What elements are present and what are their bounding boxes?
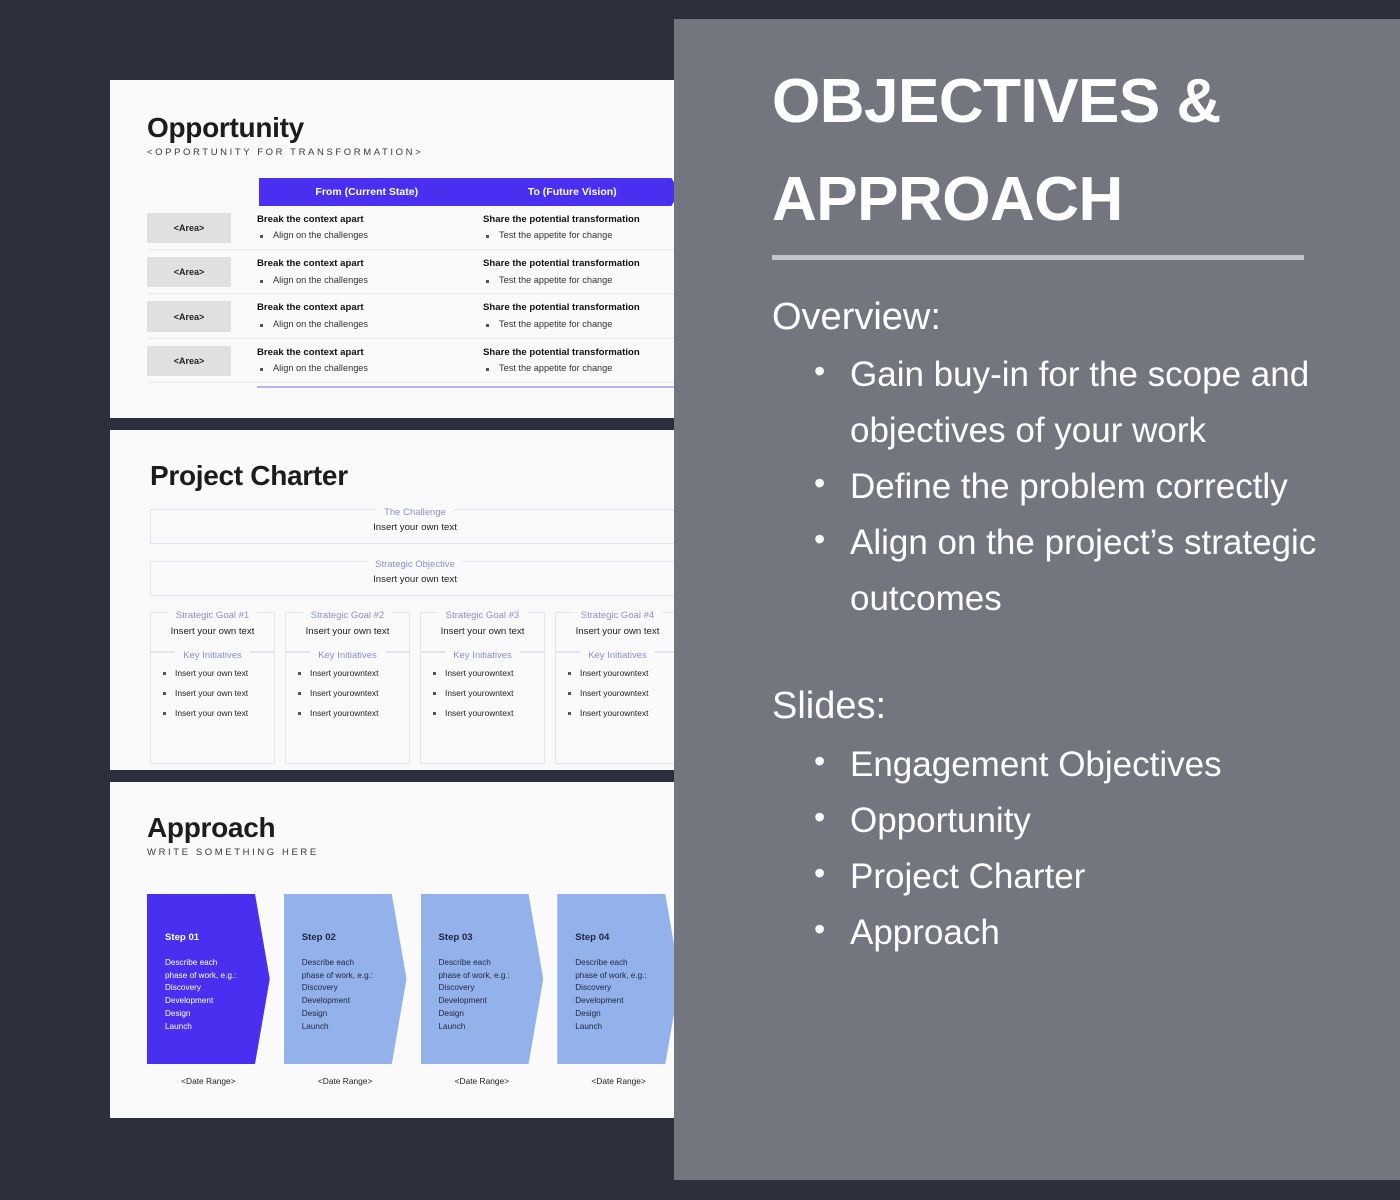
table-row[interactable]: <Area> Break the context apart Align on … (147, 294, 680, 338)
challenge-label: The Challenge (376, 507, 454, 518)
date-range: <Date Range> (284, 1076, 407, 1086)
step-text: Describe each phase of work, e.g.:Discov… (439, 957, 516, 1033)
objective-label: Strategic Objective (367, 559, 463, 570)
step-label: Step 01 (165, 932, 242, 943)
slide-card-opportunity[interactable]: Opportunity <OPPORTUNITY FOR TRANSFORMAT… (110, 80, 714, 418)
from-cell: Break the context apart Align on the cha… (257, 301, 483, 331)
list-item: Insert yourowntext (566, 667, 671, 679)
key-initiatives-list: Insert yourowntext Insert yourowntext In… (556, 653, 679, 736)
page-title: Opportunity (147, 112, 680, 144)
table-row[interactable]: <Area> Break the context apart Align on … (147, 339, 680, 383)
key-initiatives-legend: Key Initiatives (286, 645, 409, 663)
page-subtitle: WRITE SOMETHING HERE (147, 847, 680, 858)
goal-column: Strategic Goal #2 Insert your own text K… (285, 612, 410, 764)
from-heading: Break the context apart (257, 346, 483, 359)
goal-label: Strategic Goal #1 (168, 610, 257, 621)
goal-label: Strategic Goal #2 (303, 610, 392, 621)
list-item: Insert your own text (161, 687, 266, 699)
slides-list: Engagement Objectives Opportunity Projec… (812, 737, 1362, 961)
table-row[interactable]: <Area> Break the context apart Align on … (147, 250, 680, 294)
goal-legend: Strategic Goal #3 (421, 605, 544, 623)
list-item: Project Charter (812, 849, 1357, 905)
step-text: Describe each phase of work, e.g.:Discov… (165, 957, 242, 1033)
list-item: Opportunity (812, 793, 1357, 849)
slides-heading: Slides: (772, 683, 1362, 731)
key-initiatives-legend: Key Initiatives (556, 645, 679, 663)
step-item[interactable]: Step 04 Describe each phase of work, e.g… (557, 894, 680, 1086)
slide-card-approach[interactable]: Approach WRITE SOMETHING HERE Step 01 De… (110, 782, 714, 1118)
key-initiatives-box[interactable]: Key Initiatives Insert your own text Ins… (150, 652, 275, 764)
goal-column: Strategic Goal #3 Insert your own text K… (420, 612, 545, 764)
goal-legend: Strategic Goal #1 (151, 605, 274, 623)
goal-legend: Strategic Goal #4 (556, 605, 679, 623)
step-label: Step 02 (302, 932, 379, 943)
key-initiatives-legend: Key Initiatives (421, 645, 544, 663)
key-initiatives-label: Key Initiatives (445, 650, 520, 661)
key-initiatives-list: Insert yourowntext Insert yourowntext In… (286, 653, 409, 736)
key-initiatives-label: Key Initiatives (310, 650, 385, 661)
goal-legend: Strategic Goal #2 (286, 605, 409, 623)
table-footer-rule (257, 386, 680, 388)
chevron-shape: Step 02 Describe each phase of work, e.g… (284, 894, 407, 1064)
step-text: Describe each phase of work, e.g.:Discov… (302, 957, 379, 1033)
area-chip: <Area> (147, 213, 231, 243)
step-item[interactable]: Step 03 Describe each phase of work, e.g… (421, 894, 544, 1086)
step-chevron-row: Step 01 Describe each phase of work, e.g… (147, 894, 680, 1086)
list-item: Gain buy-in for the scope and objectives… (812, 347, 1357, 459)
area-chip: <Area> (147, 301, 231, 331)
section-spacer (772, 627, 1362, 683)
list-item: Insert your own text (161, 667, 266, 679)
list-item: Insert yourowntext (566, 707, 671, 719)
title-divider (772, 255, 1304, 260)
objectives-approach-panel: OBJECTIVES & APPROACH Overview: Gain buy… (674, 19, 1400, 1180)
from-bullet: Align on the challenges (257, 362, 483, 376)
list-item: Insert yourowntext (296, 707, 401, 719)
step-label: Step 04 (575, 932, 652, 943)
from-heading: Break the context apart (257, 257, 483, 270)
approach-body: Approach WRITE SOMETHING HERE Step 01 De… (110, 782, 714, 1086)
key-initiatives-list: Insert your own text Insert your own tex… (151, 653, 274, 736)
objective-box[interactable]: Strategic Objective Insert your own text (150, 561, 680, 596)
list-item: Align on the project’s strategic outcome… (812, 515, 1357, 627)
from-cell: Break the context apart Align on the cha… (257, 213, 483, 243)
list-item: Define the problem correctly (812, 459, 1357, 515)
objective-legend: Strategic Objective (151, 554, 679, 572)
column-header-from: From (Current State) (259, 178, 475, 206)
from-bullet: Align on the challenges (257, 229, 483, 243)
opportunity-body: Opportunity <OPPORTUNITY FOR TRANSFORMAT… (110, 80, 714, 388)
goal-column: Strategic Goal #4 Insert your own text K… (555, 612, 680, 764)
goal-grid: Strategic Goal #1 Insert your own text K… (150, 612, 680, 764)
column-header-to: To (Future Vision) (465, 178, 681, 206)
list-item: Approach (812, 905, 1357, 961)
goal-column: Strategic Goal #1 Insert your own text K… (150, 612, 275, 764)
date-range: <Date Range> (421, 1076, 544, 1086)
charter-body: Project Charter The Challenge Insert you… (110, 430, 714, 764)
from-heading: Break the context apart (257, 213, 483, 226)
slide-card-project-charter[interactable]: Project Charter The Challenge Insert you… (110, 430, 714, 770)
key-initiatives-box[interactable]: Key Initiatives Insert yourowntext Inser… (420, 652, 545, 764)
overview-list: Gain buy-in for the scope and objectives… (812, 347, 1362, 627)
step-label: Step 03 (439, 932, 516, 943)
list-item: Insert yourowntext (431, 707, 536, 719)
overview-heading: Overview: (772, 294, 1362, 342)
key-initiatives-box[interactable]: Key Initiatives Insert yourowntext Inser… (285, 652, 410, 764)
page-subtitle: <OPPORTUNITY FOR TRANSFORMATION> (147, 147, 680, 158)
from-cell: Break the context apart Align on the cha… (257, 257, 483, 287)
from-bullet: Align on the challenges (257, 318, 483, 332)
date-range: <Date Range> (557, 1076, 680, 1086)
list-item: Insert yourowntext (296, 687, 401, 699)
key-initiatives-list: Insert yourowntext Insert yourowntext In… (421, 653, 544, 736)
panel-title: OBJECTIVES & APPROACH (772, 53, 1362, 249)
goal-label: Strategic Goal #3 (438, 610, 527, 621)
date-range: <Date Range> (147, 1076, 270, 1086)
from-cell: Break the context apart Align on the cha… (257, 346, 483, 376)
slide-canvas: Opportunity <OPPORTUNITY FOR TRANSFORMAT… (0, 0, 1400, 1200)
page-title: Approach (147, 812, 680, 844)
from-to-header: From (Current State) To (Future Vision) (259, 178, 680, 206)
step-text: Describe each phase of work, e.g.:Discov… (575, 957, 652, 1033)
goal-label: Strategic Goal #4 (573, 610, 662, 621)
list-item: Insert yourowntext (431, 687, 536, 699)
list-item: Insert yourowntext (296, 667, 401, 679)
key-initiatives-label: Key Initiatives (175, 650, 250, 661)
chevron-shape: Step 04 Describe each phase of work, e.g… (557, 894, 680, 1064)
table-row[interactable]: <Area> Break the context apart Align on … (147, 206, 680, 250)
list-item: Insert yourowntext (566, 687, 671, 699)
step-item[interactable]: Step 02 Describe each phase of work, e.g… (284, 894, 407, 1086)
from-heading: Break the context apart (257, 301, 483, 314)
challenge-legend: The Challenge (151, 502, 679, 520)
challenge-box[interactable]: The Challenge Insert your own text (150, 509, 680, 544)
key-initiatives-box[interactable]: Key Initiatives Insert yourowntext Inser… (555, 652, 680, 764)
chevron-shape: Step 01 Describe each phase of work, e.g… (147, 894, 270, 1064)
chevron-shape: Step 03 Describe each phase of work, e.g… (421, 894, 544, 1064)
list-item: Insert your own text (161, 707, 266, 719)
key-initiatives-label: Key Initiatives (580, 650, 655, 661)
key-initiatives-legend: Key Initiatives (151, 645, 274, 663)
from-bullet: Align on the challenges (257, 274, 483, 288)
opportunity-rows: <Area> Break the context apart Align on … (147, 206, 680, 388)
page-title: Project Charter (150, 460, 680, 492)
area-chip: <Area> (147, 346, 231, 376)
area-chip: <Area> (147, 257, 231, 287)
list-item: Insert yourowntext (431, 667, 536, 679)
step-item[interactable]: Step 01 Describe each phase of work, e.g… (147, 894, 270, 1086)
list-item: Engagement Objectives (812, 737, 1357, 793)
